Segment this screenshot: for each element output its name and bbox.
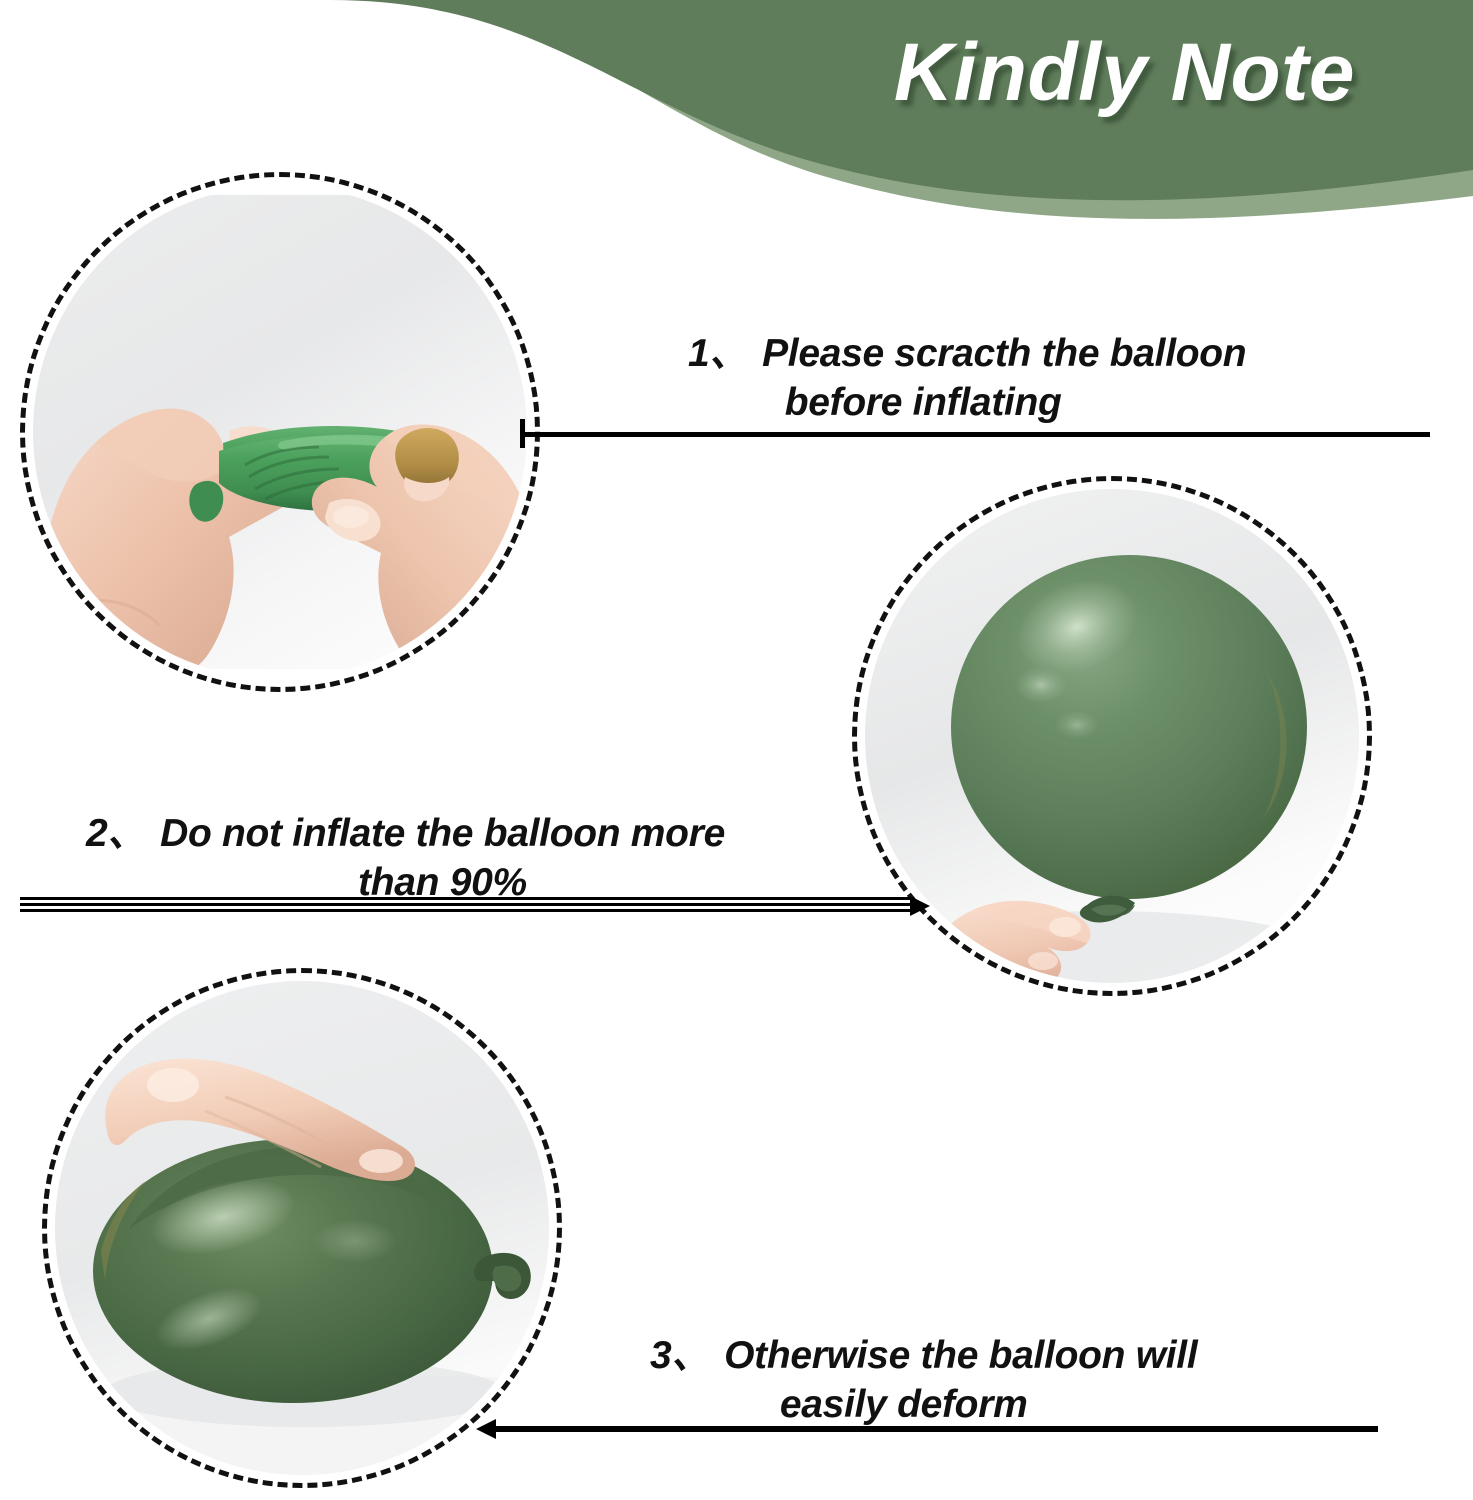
instruction-step-1: 1、Please scracth the balloon before infl… [688,330,1246,428]
kindly-note-infographic: Kindly Note [0,0,1473,1500]
step-1-number: 1、 [688,330,748,379]
page-title: Kindly Note [894,26,1355,120]
step-1-line-2: before inflating [688,379,1246,428]
photo-step-3-deformed-balloon [42,968,562,1488]
connector-arrow-step-2 [910,896,930,916]
step-2-line-1: Do not inflate the balloon more [160,812,725,855]
connector-line-step-1 [520,430,1430,438]
step-3-line-1: Otherwise the balloon will [724,1334,1197,1377]
photo-step-2-inflated-balloon [852,476,1372,996]
step-3-number: 3、 [650,1332,710,1381]
connector-line-step-2 [20,896,928,916]
photo-step-2-image [865,489,1359,983]
photo-step-3-image [55,981,549,1475]
step-2-number: 2、 [86,810,146,859]
photo-step-1-stretch-balloon [20,172,540,692]
step-1-line-1: Please scracth the balloon [762,332,1246,375]
photo-step-1-image [33,185,527,679]
instruction-step-2: 2、Do not inflate the balloon more than 9… [86,810,725,908]
connector-line-step-3 [478,1420,1378,1438]
instruction-step-3: 3、Otherwise the balloon will easily defo… [650,1332,1197,1430]
